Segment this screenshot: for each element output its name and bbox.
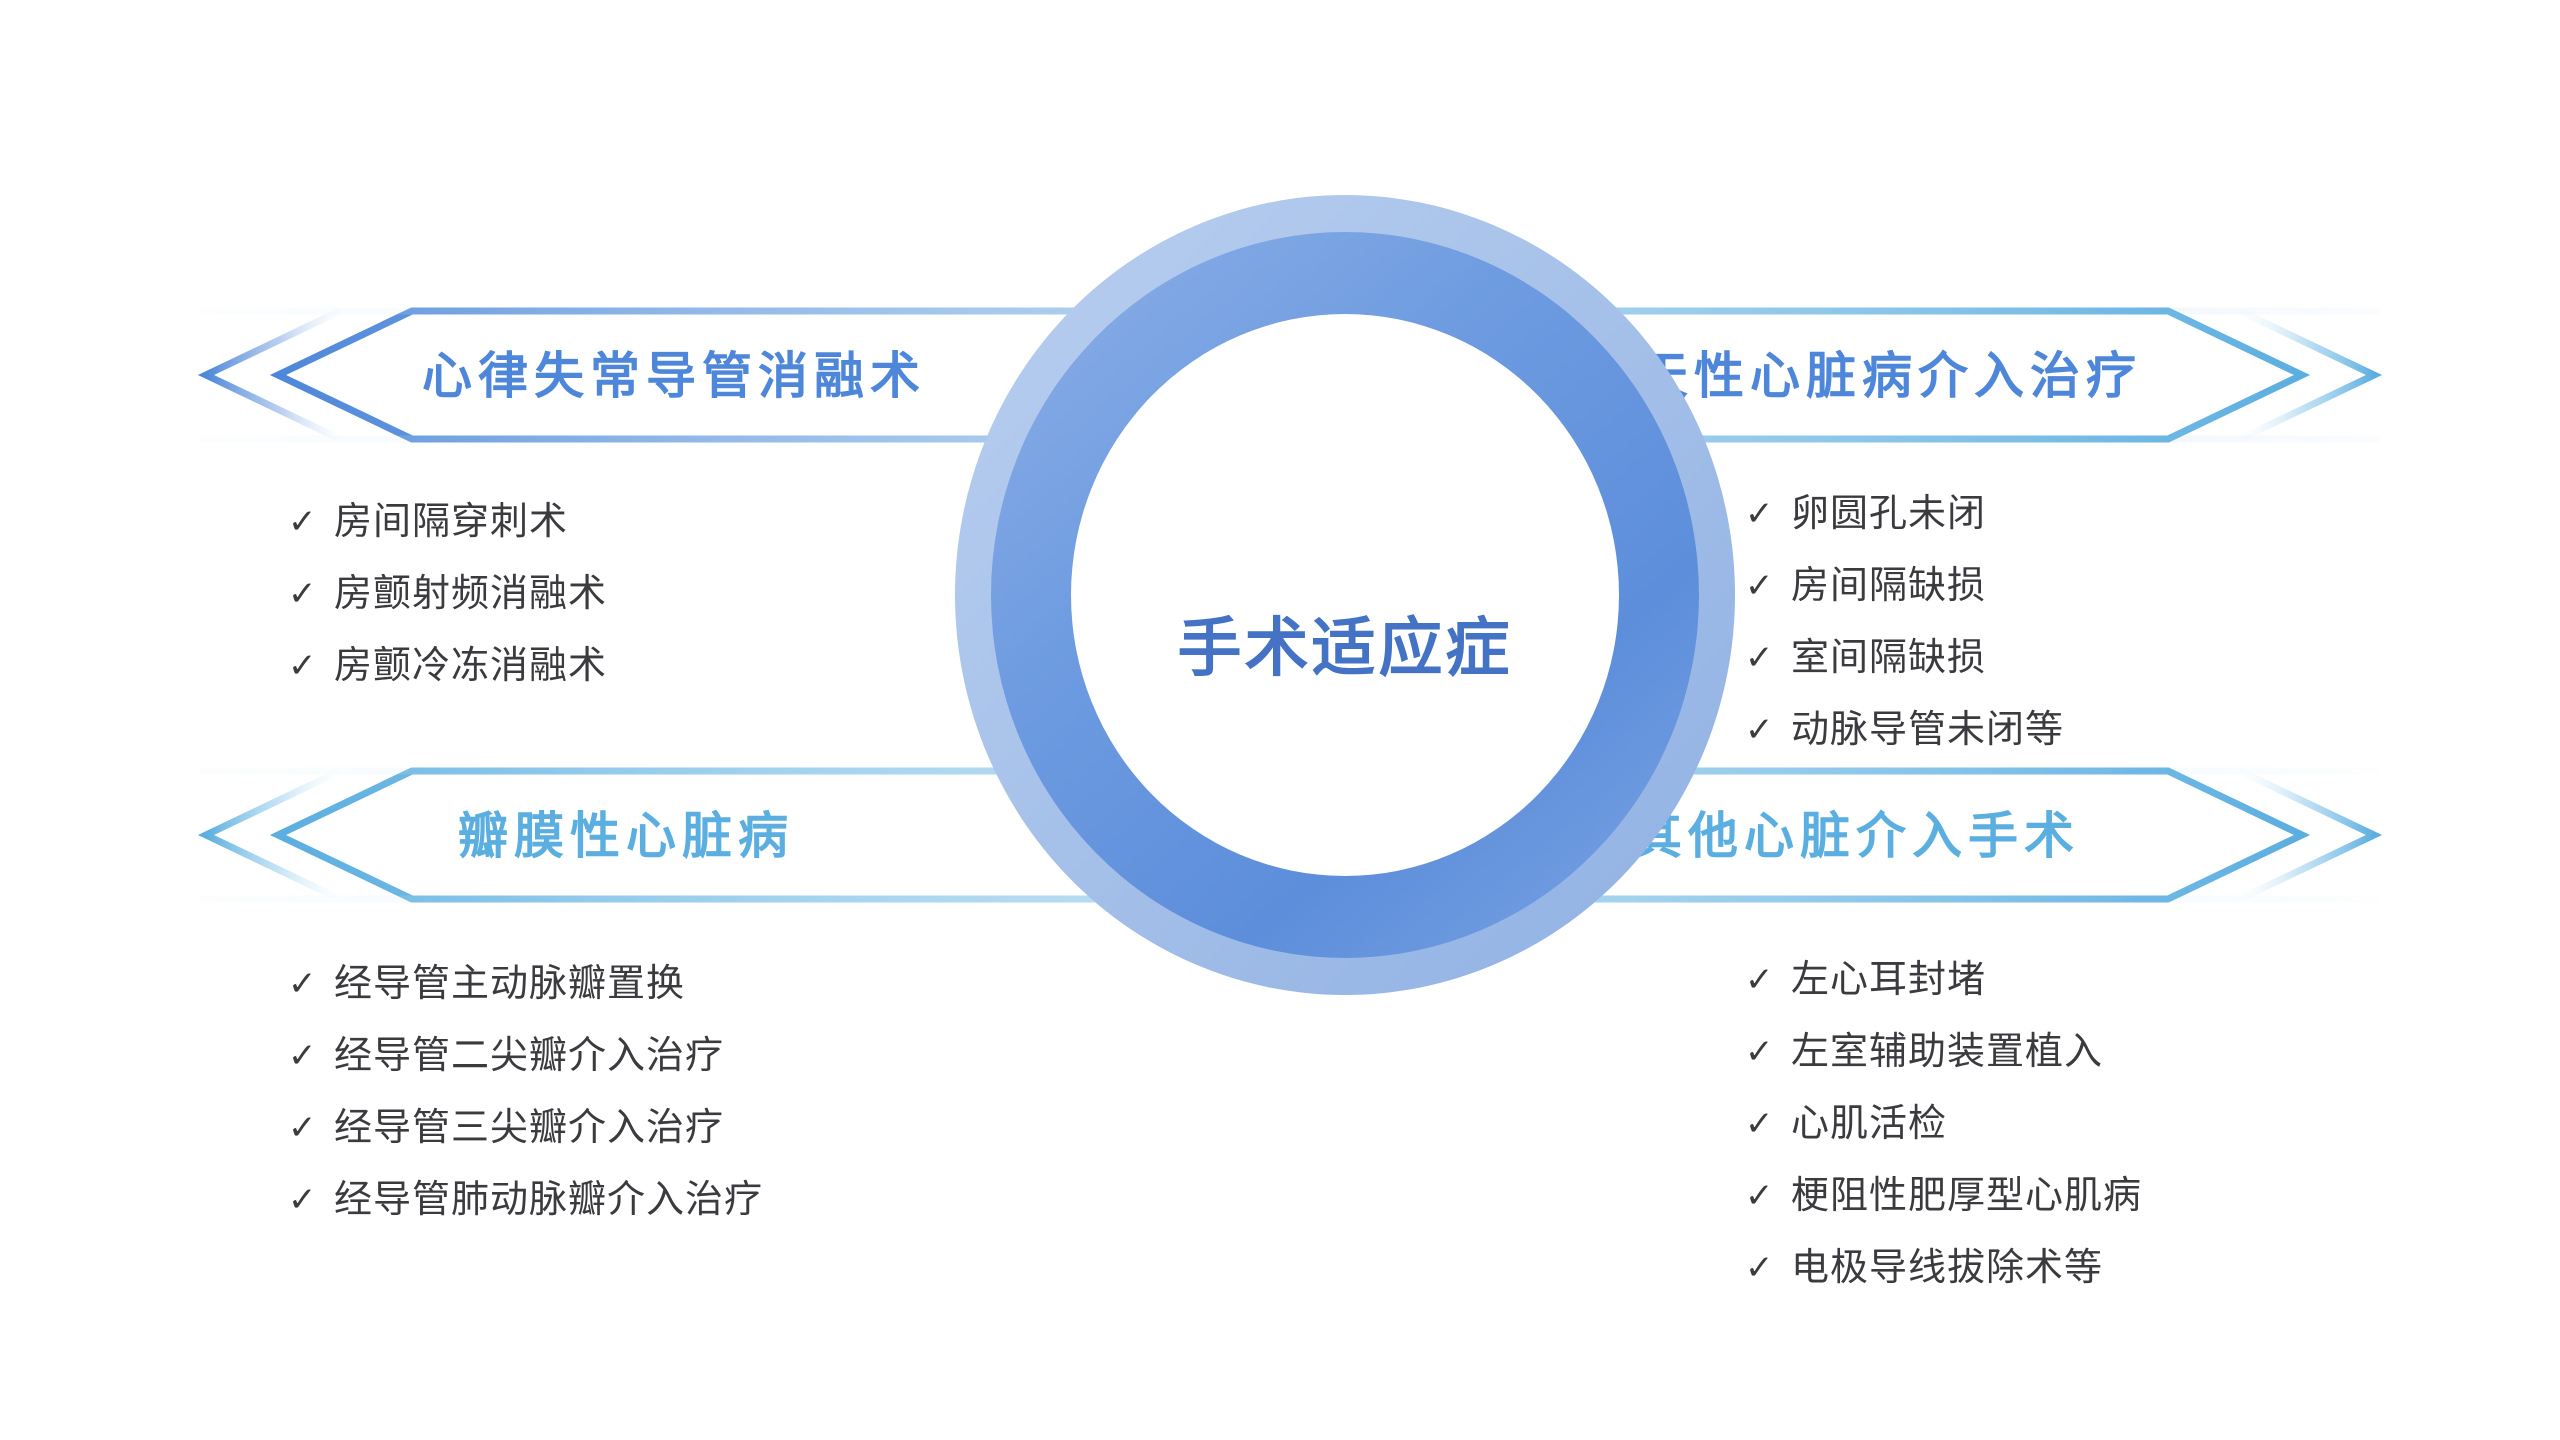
list-item: ✓ 左室辅助装置植入	[1745, 1016, 2142, 1088]
list-item-label: 房颤射频消融术	[334, 575, 607, 613]
center-ring: 手术适应症	[955, 195, 1735, 995]
list-item-label: 动脉导管未闭等	[1791, 711, 2064, 749]
list-congenital-heart-disease-intervention: ✓ 卵圆孔未闭 ✓ 房间隔缺损 ✓ 室间隔缺损 ✓ 动脉导管未闭等	[1745, 478, 2064, 766]
list-item: ✓ 经导管主动脉瓣置换	[288, 948, 763, 1020]
list-item: ✓ 电极导线拔除术等	[1745, 1232, 2142, 1304]
list-item: ✓ 经导管三尖瓣介入治疗	[288, 1092, 763, 1164]
check-icon: ✓	[1745, 1035, 1791, 1069]
check-icon: ✓	[288, 577, 334, 611]
check-icon: ✓	[288, 1111, 334, 1145]
ring-center-disc: 手术适应症	[1071, 314, 1619, 876]
check-icon: ✓	[1745, 713, 1791, 747]
check-icon: ✓	[288, 505, 334, 539]
list-item-label: 室间隔缺损	[1791, 639, 1986, 677]
check-icon: ✓	[1745, 497, 1791, 531]
list-item: ✓ 经导管肺动脉瓣介入治疗	[288, 1164, 763, 1236]
check-icon: ✓	[1745, 1179, 1791, 1213]
list-item: ✓ 房颤射频消融术	[288, 558, 607, 630]
list-item: ✓ 房间隔缺损	[1745, 550, 2064, 622]
infographic-canvas: 心律失常导管消融术 ✓ 房间隔穿刺术 ✓ 房颤射频消融术 ✓ 房颤冷冻消融术	[0, 0, 2560, 1440]
list-item-label: 房颤冷冻消融术	[334, 647, 607, 685]
list-item-label: 左室辅助装置植入	[1791, 1033, 2103, 1071]
list-item: ✓ 心肌活检	[1745, 1088, 2142, 1160]
list-item-label: 经导管二尖瓣介入治疗	[334, 1037, 724, 1075]
list-item-label: 心肌活检	[1791, 1105, 1947, 1143]
list-item: ✓ 左心耳封堵	[1745, 944, 2142, 1016]
check-icon: ✓	[1745, 963, 1791, 997]
center-title: 手术适应症	[1178, 597, 1513, 689]
list-item: ✓ 卵圆孔未闭	[1745, 478, 2064, 550]
list-item-label: 房间隔穿刺术	[334, 503, 568, 541]
list-arrhythmia-catheter-ablation: ✓ 房间隔穿刺术 ✓ 房颤射频消融术 ✓ 房颤冷冻消融术	[288, 486, 607, 702]
list-item: ✓ 梗阻性肥厚型心肌病	[1745, 1160, 2142, 1232]
list-other-cardiac-interventions: ✓ 左心耳封堵 ✓ 左室辅助装置植入 ✓ 心肌活检 ✓ 梗阻性肥厚型心肌病 ✓ …	[1745, 944, 2142, 1304]
list-item-label: 左心耳封堵	[1791, 961, 1986, 999]
check-icon: ✓	[1745, 641, 1791, 675]
list-valvular-heart-disease: ✓ 经导管主动脉瓣置换 ✓ 经导管二尖瓣介入治疗 ✓ 经导管三尖瓣介入治疗 ✓ …	[288, 948, 763, 1236]
list-item: ✓ 房间隔穿刺术	[288, 486, 607, 558]
list-item-label: 经导管肺动脉瓣介入治疗	[334, 1181, 763, 1219]
check-icon: ✓	[288, 1039, 334, 1073]
list-item-label: 梗阻性肥厚型心肌病	[1791, 1177, 2142, 1215]
list-item-label: 房间隔缺损	[1791, 567, 1986, 605]
check-icon: ✓	[288, 649, 334, 683]
list-item-label: 电极导线拔除术等	[1791, 1249, 2103, 1287]
list-item-label: 经导管三尖瓣介入治疗	[334, 1109, 724, 1147]
check-icon: ✓	[1745, 569, 1791, 603]
check-icon: ✓	[1745, 1107, 1791, 1141]
list-item-label: 卵圆孔未闭	[1791, 495, 1986, 533]
list-item: ✓ 房颤冷冻消融术	[288, 630, 607, 702]
check-icon: ✓	[288, 1183, 334, 1217]
list-item: ✓ 经导管二尖瓣介入治疗	[288, 1020, 763, 1092]
list-item: ✓ 动脉导管未闭等	[1745, 694, 2064, 766]
check-icon: ✓	[1745, 1251, 1791, 1285]
list-item: ✓ 室间隔缺损	[1745, 622, 2064, 694]
list-item-label: 经导管主动脉瓣置换	[334, 965, 685, 1003]
check-icon: ✓	[288, 967, 334, 1001]
